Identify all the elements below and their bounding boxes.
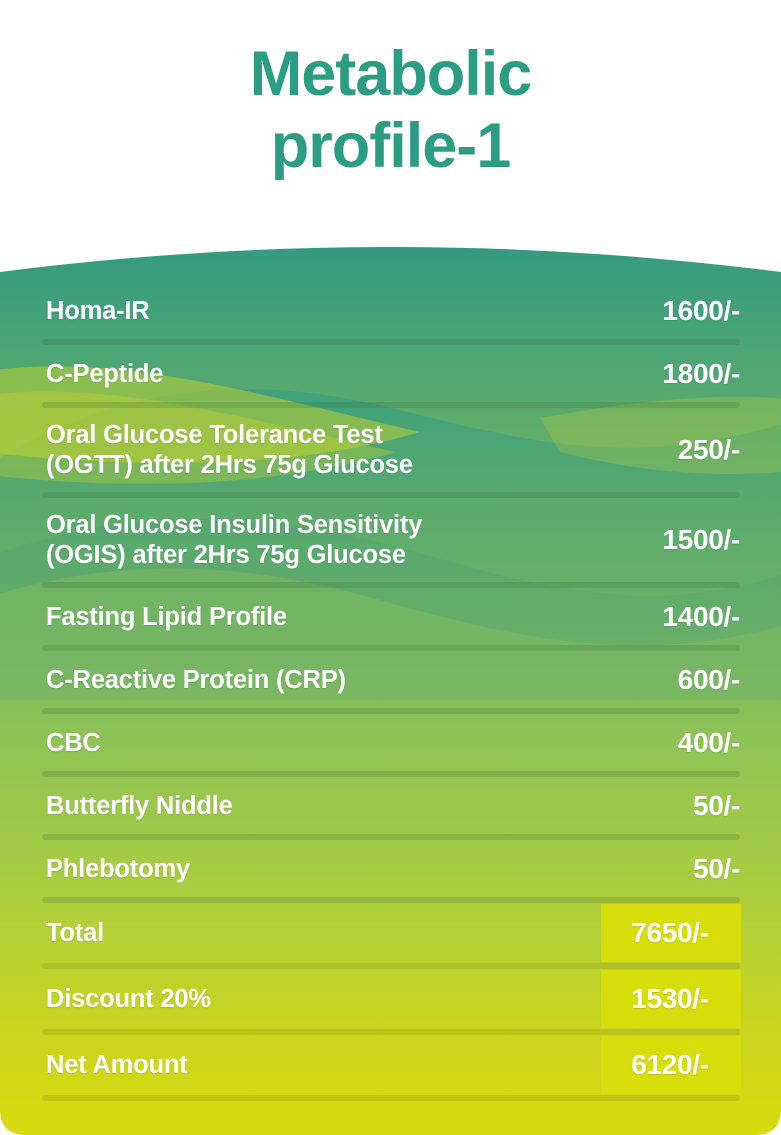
row-price-highlighted: 1530/-	[601, 970, 741, 1028]
row-price: 50/-	[602, 852, 740, 886]
row-price: 600/-	[602, 663, 740, 697]
table-row: Homa-IR1600/-	[0, 283, 781, 338]
table-row-inner: Oral Glucose Insulin Sensitivity(OGIS) a…	[46, 499, 740, 581]
row-label-line-1: Oral Glucose Tolerance Test	[46, 420, 594, 450]
row-separator	[42, 581, 740, 589]
table-row-inner: Oral Glucose Tolerance Test(OGTT) after …	[46, 409, 740, 491]
row-price: 50/-	[602, 789, 740, 823]
price-list-poster: Metabolic profile-1 Homa-IR1600/-C-Pepti…	[0, 0, 781, 1135]
table-row-inner: Butterfly Niddle50/-	[46, 778, 740, 833]
row-label-line-2: (OGIS) after 2Hrs 75g Glucose	[46, 540, 594, 570]
table-row: Butterfly Niddle50/-	[0, 778, 781, 833]
row-separator	[42, 707, 740, 715]
table-row: C-Reactive Protein (CRP)600/-	[0, 652, 781, 707]
row-label: Butterfly Niddle	[46, 791, 602, 821]
row-separator	[42, 644, 740, 652]
table-row-inner: C-Peptide1800/-	[46, 346, 740, 401]
table-row-inner: Discount 20%1530/-	[46, 970, 740, 1028]
row-price: 1500/-	[602, 523, 740, 557]
table-row: Discount 20%1530/-	[0, 970, 781, 1028]
row-label: Fasting Lipid Profile	[46, 602, 602, 632]
row-separator	[42, 1094, 740, 1102]
row-label: C-Reactive Protein (CRP)	[46, 665, 602, 695]
table-row-inner: CBC400/-	[46, 715, 740, 770]
table-row-inner: Phlebotomy50/-	[46, 841, 740, 896]
table-row-inner: Total7650/-	[46, 904, 740, 962]
table-row: Oral Glucose Insulin Sensitivity(OGIS) a…	[0, 499, 781, 581]
row-price: 1800/-	[602, 357, 740, 391]
table-row-inner: Homa-IR1600/-	[46, 283, 740, 338]
table-row: Fasting Lipid Profile1400/-	[0, 589, 781, 644]
row-separator	[42, 491, 740, 499]
row-label: Discount 20%	[46, 984, 601, 1014]
row-label-line-1: Oral Glucose Insulin Sensitivity	[46, 510, 594, 540]
table-row: Net Amount6120/-	[0, 1036, 781, 1094]
row-separator	[42, 1028, 740, 1036]
table-row-inner: Fasting Lipid Profile1400/-	[46, 589, 740, 644]
table-row: Total7650/-	[0, 904, 781, 962]
row-label: Oral Glucose Insulin Sensitivity(OGIS) a…	[46, 510, 602, 570]
row-separator	[42, 401, 740, 409]
table-row-inner: C-Reactive Protein (CRP)600/-	[46, 652, 740, 707]
row-price: 250/-	[602, 433, 740, 467]
table-row-inner: Net Amount6120/-	[46, 1036, 740, 1094]
table-row: Phlebotomy50/-	[0, 841, 781, 896]
row-separator	[42, 338, 740, 346]
row-label: Homa-IR	[46, 296, 602, 326]
row-label: C-Peptide	[46, 359, 602, 389]
row-price-highlighted: 7650/-	[601, 904, 741, 962]
row-separator	[42, 770, 740, 778]
row-separator	[42, 896, 740, 904]
row-price: 400/-	[602, 726, 740, 760]
row-label: Oral Glucose Tolerance Test(OGTT) after …	[46, 420, 602, 480]
price-table: Homa-IR1600/-C-Peptide1800/-Oral Glucose…	[0, 283, 781, 1102]
row-price-highlighted: 6120/-	[601, 1036, 741, 1094]
row-price: 1400/-	[602, 600, 740, 634]
row-label: CBC	[46, 728, 602, 758]
row-label-line-2: (OGTT) after 2Hrs 75g Glucose	[46, 450, 594, 480]
row-separator	[42, 833, 740, 841]
row-label: Total	[46, 918, 601, 948]
row-label: Phlebotomy	[46, 854, 602, 884]
table-row: C-Peptide1800/-	[0, 346, 781, 401]
table-row: Oral Glucose Tolerance Test(OGTT) after …	[0, 409, 781, 491]
table-row: CBC400/-	[0, 715, 781, 770]
row-separator	[42, 962, 740, 970]
row-price: 1600/-	[602, 294, 740, 328]
row-label: Net Amount	[46, 1050, 601, 1080]
